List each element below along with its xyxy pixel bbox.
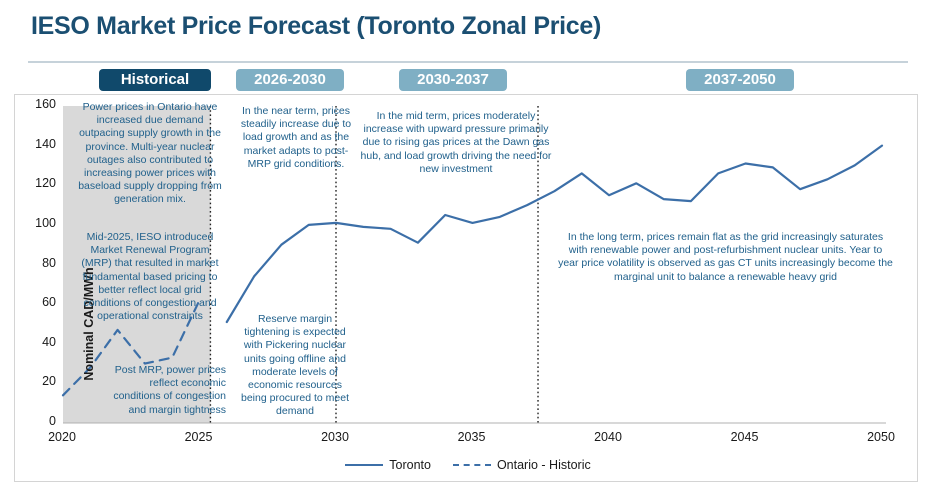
phase-pill-2037-2050[interactable]: 2037-2050 (686, 69, 794, 91)
phase-pill-2030-2037[interactable]: 2030-2037 (399, 69, 507, 91)
phase-pill-historical[interactable]: Historical (99, 69, 211, 91)
phase-pill-2026-2030[interactable]: 2026-2030 (236, 69, 344, 91)
legend-swatch-solid-icon (345, 464, 383, 466)
title-divider (28, 61, 908, 63)
annotation-mid-term-1: In the mid term, prices moderately incre… (360, 110, 552, 176)
legend-label-toronto: Toronto (389, 458, 431, 472)
y-tick-140: 140 (22, 137, 56, 151)
y-tick-0: 0 (22, 414, 56, 428)
x-tick-2050: 2050 (855, 430, 907, 444)
annotation-near-term-1: In the near term, prices steadily increa… (237, 105, 355, 171)
x-tick-2045: 2045 (719, 430, 771, 444)
x-tick-2035: 2035 (446, 430, 498, 444)
x-tick-2030: 2030 (309, 430, 361, 444)
y-tick-160: 160 (22, 97, 56, 111)
y-tick-20: 20 (22, 374, 56, 388)
x-tick-2025: 2025 (173, 430, 225, 444)
x-tick-2020: 2020 (36, 430, 88, 444)
legend-entry-ontario-historic[interactable]: Ontario - Historic (453, 458, 591, 472)
y-tick-100: 100 (22, 216, 56, 230)
legend-swatch-dashed-icon (453, 464, 491, 466)
y-tick-120: 120 (22, 176, 56, 190)
chart-legend: Toronto Ontario - Historic (0, 458, 936, 472)
annotation-historical-2: Mid-2025, IESO introduced Market Renewal… (74, 231, 226, 323)
annotation-near-term-2: Reserve margin tightening is expected wi… (235, 313, 355, 419)
page-title: IESO Market Price Forecast (Toronto Zona… (31, 12, 601, 41)
legend-label-ontario-historic: Ontario - Historic (497, 458, 591, 472)
annotation-historical-3: Post MRP, power prices reflect economic … (108, 364, 226, 417)
y-tick-60: 60 (22, 295, 56, 309)
annotation-historical-1: Power prices in Ontario have increased d… (74, 101, 226, 207)
y-tick-80: 80 (22, 256, 56, 270)
x-tick-2040: 2040 (582, 430, 634, 444)
y-tick-40: 40 (22, 335, 56, 349)
annotation-long-term-1: In the long term, prices remain flat as … (558, 231, 893, 284)
legend-entry-toronto[interactable]: Toronto (345, 458, 431, 472)
